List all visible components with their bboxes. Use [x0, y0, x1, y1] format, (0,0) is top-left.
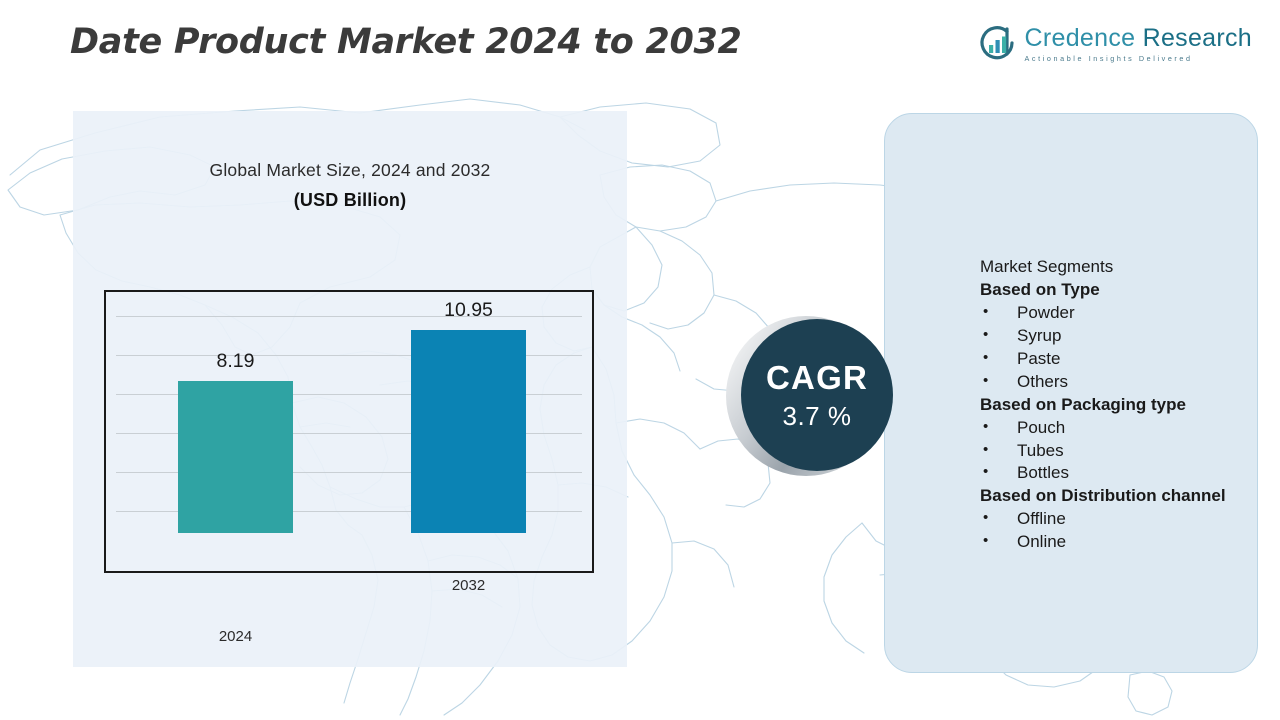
infographic-canvas: Date Product Market 2024 to 2032 Credenc… — [0, 0, 1280, 720]
segment-item-label: Syrup — [1017, 326, 1061, 345]
cagr-label: CAGR — [766, 361, 868, 394]
segment-item-label: Pouch — [1017, 418, 1065, 437]
logo-name-part2: Research — [1143, 24, 1252, 52]
segment-item-label: Bottles — [1017, 463, 1069, 482]
segment-item-label: Others — [1017, 372, 1068, 391]
segment-group-heading: Based on Distribution channel — [980, 485, 1270, 508]
segment-group-heading: Based on Packaging type — [980, 394, 1270, 417]
bullet-icon: • — [983, 508, 988, 528]
segment-item-label: Offline — [1017, 509, 1066, 528]
bar-label-2024: 2024 — [156, 628, 315, 645]
bar-2032[interactable] — [411, 330, 526, 533]
segment-group-heading: Based on Type — [980, 279, 1270, 302]
bullet-icon: • — [983, 325, 988, 345]
bar-group-2032[interactable]: 10.95 2032 — [411, 330, 526, 533]
segment-list-item[interactable]: •Powder — [980, 302, 1270, 325]
bullet-icon: • — [983, 417, 988, 437]
segment-item-label: Paste — [1017, 349, 1060, 368]
bar-label-2032: 2032 — [389, 577, 548, 594]
market-segments-list: Market Segments Based on Type•Powder•Syr… — [980, 256, 1270, 554]
bullet-icon: • — [983, 440, 988, 460]
bullet-icon: • — [983, 348, 988, 368]
chart-heading-line1: Global Market Size, 2024 and 2032 — [73, 160, 627, 181]
bar-value-2032: 10.95 — [411, 299, 526, 322]
segment-list-item[interactable]: •Tubes — [980, 440, 1270, 463]
segment-item-label: Powder — [1017, 303, 1075, 322]
segment-list-item[interactable]: •Bottles — [980, 462, 1270, 485]
chart-plot-area: 8.19 2024 10.95 2032 — [106, 292, 592, 533]
logo-name: Credence Research — [1025, 26, 1252, 51]
segment-item-label: Tubes — [1017, 441, 1064, 460]
bar-group-2024[interactable]: 8.19 2024 — [178, 381, 293, 533]
cagr-value: 3.7 % — [783, 403, 852, 429]
logo-name-part1: Credence — [1025, 24, 1136, 52]
logo-text: Credence Research Actionable Insights De… — [1025, 26, 1252, 62]
segments-title: Market Segments — [980, 256, 1270, 279]
bullet-icon: • — [983, 531, 988, 551]
segment-list-item[interactable]: •Paste — [980, 348, 1270, 371]
logo-tagline: Actionable Insights Delivered — [1025, 55, 1252, 62]
bullet-icon: • — [983, 371, 988, 391]
segment-list-item[interactable]: •Syrup — [980, 325, 1270, 348]
bullet-icon: • — [983, 302, 988, 322]
segment-list-item[interactable]: •Pouch — [980, 417, 1270, 440]
segment-list-item[interactable]: •Others — [980, 371, 1270, 394]
chart-heading-line2: (USD Billion) — [73, 190, 627, 211]
bullet-icon: • — [983, 462, 988, 482]
bar-chart: 8.19 2024 10.95 2032 — [104, 290, 594, 573]
bar-2024[interactable] — [178, 381, 293, 533]
segment-list-item[interactable]: •Online — [980, 531, 1270, 554]
page-title: Date Product Market 2024 to 2032 — [70, 22, 742, 62]
segment-list-item[interactable]: •Offline — [980, 508, 1270, 531]
brand-logo[interactable]: Credence Research Actionable Insights De… — [977, 24, 1252, 64]
chart-heading: Global Market Size, 2024 and 2032 (USD B… — [73, 160, 627, 211]
cagr-badge: CAGR 3.7 % — [741, 319, 893, 471]
bar-chart-circle-icon — [977, 24, 1017, 64]
segment-item-label: Online — [1017, 532, 1066, 551]
bar-value-2024: 8.19 — [178, 350, 293, 373]
